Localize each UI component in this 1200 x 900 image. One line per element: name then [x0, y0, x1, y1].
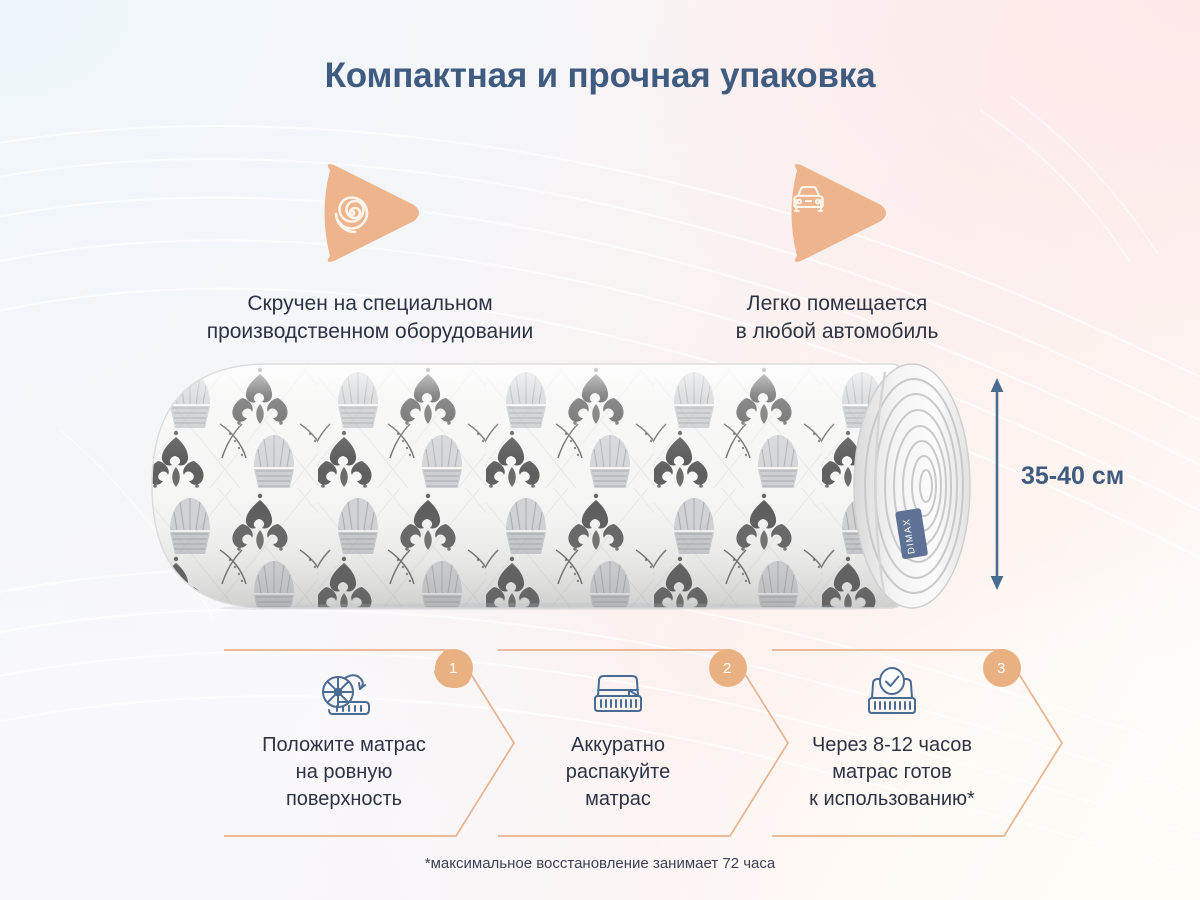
step-3-content: Через 8-12 часов матрас готов к использо… [780, 666, 1004, 812]
step-3-text: Через 8-12 часов матрас готов к использо… [780, 732, 1004, 812]
feature-roll-label: Скручен на специальном производственном … [164, 290, 576, 345]
step-1-number: 1 [449, 660, 457, 677]
page-title: Компактная и прочная упаковка [0, 56, 1200, 96]
rolled-mattress-measure-icon [315, 666, 373, 722]
steps-row: Положите матрас на ровную поверхность 1 [224, 648, 984, 838]
step-2[interactable]: Аккуратно распакуйте матрас 2 [498, 648, 790, 838]
car-front-icon [788, 173, 838, 223]
step-2-content: Аккуратно распакуйте матрас [506, 666, 730, 812]
step-2-number: 2 [723, 660, 731, 677]
rolled-mattress-image: DIMAX [150, 362, 972, 610]
step-3-number: 3 [997, 660, 1005, 677]
unwrap-mattress-icon [589, 666, 647, 722]
feature-car-badge [777, 158, 897, 268]
step-1-text: Положите матрас на ровную поверхность [232, 732, 456, 812]
double-arrow-vertical-icon [985, 378, 1009, 590]
step-1[interactable]: Положите матрас на ровную поверхность 1 [224, 648, 516, 838]
mattress-check-icon [863, 666, 921, 722]
feature-car-label: Легко помещается в любой автомобиль [655, 290, 1019, 345]
feature-car: Легко помещается в любой автомобиль [655, 158, 1019, 345]
spiral-roll-icon [324, 185, 380, 241]
dimension-label: 35-40 см [1021, 462, 1124, 491]
infographic-canvas: Компактная и прочная упаковка Скручен на… [0, 0, 1200, 900]
step-1-content: Положите матрас на ровную поверхность [232, 666, 456, 812]
step-2-text: Аккуратно распакуйте матрас [506, 732, 730, 812]
roll-end-spiral [854, 364, 970, 608]
step-3[interactable]: Через 8-12 часов матрас готов к использо… [772, 648, 1064, 838]
footnote: *максимальное восстановление занимает 72… [0, 855, 1200, 872]
feature-roll-badge [310, 158, 430, 268]
feature-roll: Скручен на специальном производственном … [164, 158, 576, 345]
